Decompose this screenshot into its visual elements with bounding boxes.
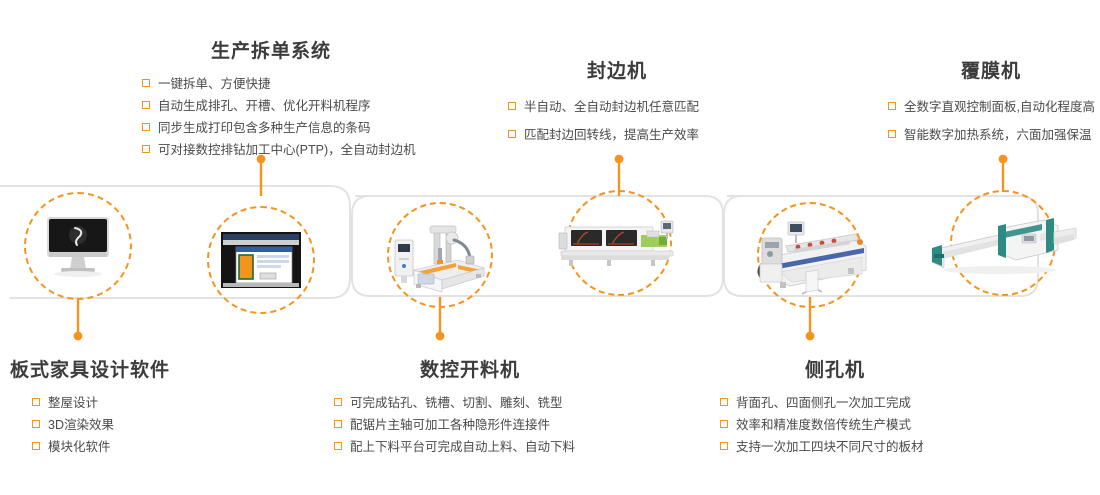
list-item: 自动生成排孔、开槽、优化开料机程序	[142, 95, 456, 117]
imac-monitor-icon	[26, 194, 130, 298]
list-item-label: 半自动、全自动封边机任意匹配	[524, 100, 699, 114]
list-item-label: 支持一次加工四块不同尺寸的板材	[736, 440, 924, 454]
node-laminator[interactable]	[950, 190, 1056, 296]
list-item-label: 匹配封边回转线，提高生产效率	[524, 128, 699, 142]
list-item: 背面孔、四面侧孔一次加工完成	[720, 392, 1000, 414]
list-item-label: 全数字直观控制面板,自动化程度高	[904, 100, 1095, 114]
cnc-router-icon	[389, 204, 491, 306]
list-item: 匹配封边回转线，提高生产效率	[508, 121, 736, 149]
side-driller-icon	[759, 204, 861, 306]
list-item: 全数字直观控制面板,自动化程度高	[888, 93, 1100, 121]
checkbox-bullet-icon	[334, 420, 342, 428]
list-item-label: 可完成钻孔、铣槽、切割、雕刻、铣型	[350, 396, 563, 410]
list-item: 配上下料平台可完成自动上料、自动下料	[334, 436, 620, 458]
block-edge-banding: 封边机 半自动、全自动封边机任意匹配 匹配封边回转线，提高生产效率	[506, 56, 736, 149]
list-item: 可对接数控排钻加工中心(PTP)，全自动封边机	[142, 139, 456, 161]
infographic-canvas: 板式家具设计软件 整屋设计 3D渲染效果 模块化软件 生产拆单系统 一键拆单、方…	[0, 0, 1100, 495]
node-software-ui[interactable]	[207, 206, 315, 314]
block-title-edge-banding: 封边机	[506, 56, 728, 83]
list-item: 可完成钻孔、铣槽、切割、雕刻、铣型	[334, 392, 620, 414]
connector-dot-laminator	[999, 155, 1008, 164]
list-item: 配锯片主轴可加工各种隐形件连接件	[334, 414, 620, 436]
checkbox-bullet-icon	[720, 398, 728, 406]
list-item: 效率和精准度数倍传统生产模式	[720, 414, 1000, 436]
list-item: 半自动、全自动封边机任意匹配	[508, 93, 736, 121]
feature-list-side-drilling: 背面孔、四面侧孔一次加工完成 效率和精准度数倍传统生产模式 支持一次加工四块不同…	[720, 392, 1000, 458]
checkbox-bullet-icon	[334, 442, 342, 450]
checkbox-bullet-icon	[32, 398, 40, 406]
node-cnc-router[interactable]	[387, 202, 493, 308]
checkbox-bullet-icon	[508, 102, 516, 110]
block-design-software: 板式家具设计软件 整屋设计 3D渲染效果 模块化软件	[10, 355, 230, 458]
checkbox-bullet-icon	[508, 130, 516, 138]
list-item-label: 一键拆单、方便快捷	[158, 77, 271, 91]
block-title-design-software: 板式家具设计软件	[10, 355, 230, 382]
list-item-label: 自动生成排孔、开槽、优化开料机程序	[158, 99, 371, 113]
checkbox-bullet-icon	[720, 420, 728, 428]
edge-bander-icon	[568, 192, 670, 294]
connector-dot-side-driller	[806, 332, 815, 341]
block-title-laminating: 覆膜机	[888, 56, 1094, 83]
checkbox-bullet-icon	[142, 79, 150, 87]
software-screen-icon	[209, 208, 313, 312]
list-item-label: 效率和精准度数倍传统生产模式	[736, 418, 911, 432]
list-item: 支持一次加工四块不同尺寸的板材	[720, 436, 1000, 458]
laminator-icon	[952, 192, 1054, 294]
list-item-label: 背面孔、四面侧孔一次加工完成	[736, 396, 911, 410]
checkbox-bullet-icon	[142, 101, 150, 109]
node-side-driller[interactable]	[757, 202, 863, 308]
checkbox-bullet-icon	[888, 102, 896, 110]
list-item: 3D渲染效果	[32, 414, 230, 436]
list-item-label: 3D渲染效果	[48, 418, 114, 432]
block-splitting-system: 生产拆单系统 一键拆单、方便快捷 自动生成排孔、开槽、优化开料机程序 同步生成打…	[136, 36, 456, 161]
checkbox-bullet-icon	[888, 130, 896, 138]
list-item-label: 模块化软件	[48, 440, 111, 454]
feature-list-design-software: 整屋设计 3D渲染效果 模块化软件	[32, 392, 230, 458]
feature-list-laminating: 全数字直观控制面板,自动化程度高 智能数字加热系统，六面加强保温	[888, 93, 1100, 149]
list-item-label: 同步生成打印包含多种生产信息的条码	[158, 121, 371, 135]
list-item-label: 配上下料平台可完成自动上料、自动下料	[350, 440, 575, 454]
block-title-splitting-system: 生产拆单系统	[136, 36, 406, 63]
list-item: 一键拆单、方便快捷	[142, 73, 456, 95]
list-item-label: 可对接数控排钻加工中心(PTP)，全自动封边机	[158, 143, 416, 157]
block-side-drilling: 侧孔机 背面孔、四面侧孔一次加工完成 效率和精准度数倍传统生产模式 支持一次加工…	[710, 355, 1000, 458]
feature-list-cnc-cutting: 可完成钻孔、铣槽、切割、雕刻、铣型 配锯片主轴可加工各种隐形件连接件 配上下料平…	[334, 392, 620, 458]
block-title-cnc-cutting: 数控开料机	[330, 355, 610, 382]
list-item-label: 智能数字加热系统，六面加强保温	[904, 128, 1092, 142]
checkbox-bullet-icon	[32, 442, 40, 450]
list-item: 整屋设计	[32, 392, 230, 414]
checkbox-bullet-icon	[142, 123, 150, 131]
checkbox-bullet-icon	[142, 145, 150, 153]
connector-dot-edge-bander	[615, 155, 624, 164]
block-cnc-cutting: 数控开料机 可完成钻孔、铣槽、切割、雕刻、铣型 配锯片主轴可加工各种隐形件连接件…	[330, 355, 620, 458]
list-item: 模块化软件	[32, 436, 230, 458]
node-edge-bander[interactable]	[566, 190, 672, 296]
list-item: 同步生成打印包含多种生产信息的条码	[142, 117, 456, 139]
checkbox-bullet-icon	[32, 420, 40, 428]
feature-list-splitting-system: 一键拆单、方便快捷 自动生成排孔、开槽、优化开料机程序 同步生成打印包含多种生产…	[142, 73, 456, 161]
connector-dot-design-software	[74, 332, 83, 341]
list-item: 智能数字加热系统，六面加强保温	[888, 121, 1100, 149]
block-laminating: 覆膜机 全数字直观控制面板,自动化程度高 智能数字加热系统，六面加强保温	[888, 56, 1100, 149]
feature-list-edge-banding: 半自动、全自动封边机任意匹配 匹配封边回转线，提高生产效率	[508, 93, 736, 149]
checkbox-bullet-icon	[720, 442, 728, 450]
connector-dot-cnc	[436, 332, 445, 341]
node-monitor[interactable]	[24, 192, 132, 300]
list-item-label: 整屋设计	[48, 396, 98, 410]
list-item-label: 配锯片主轴可加工各种隐形件连接件	[350, 418, 550, 432]
checkbox-bullet-icon	[334, 398, 342, 406]
block-title-side-drilling: 侧孔机	[710, 355, 960, 382]
